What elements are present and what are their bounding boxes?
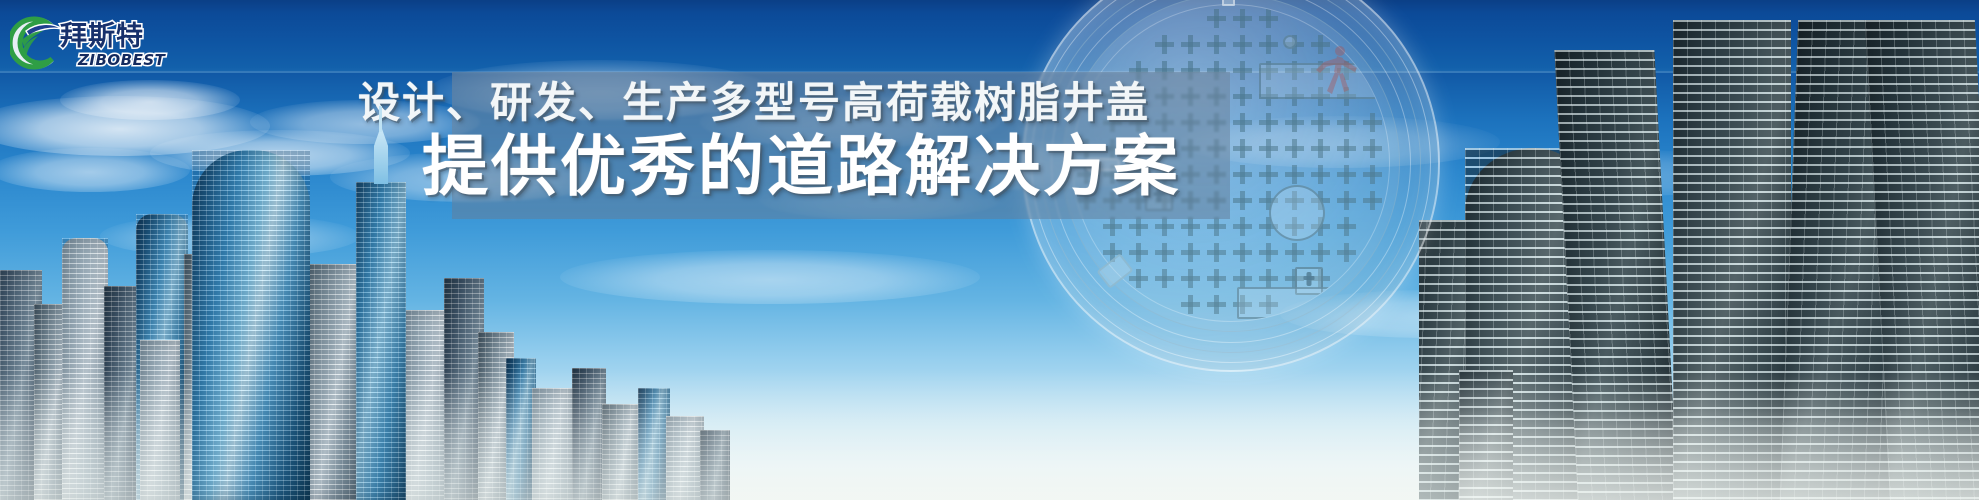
headline-line-1: 设计、研发、生产多型号高荷载树脂井盖 [358, 80, 1150, 126]
cross-pattern-cell [1155, 35, 1174, 54]
cross-pattern-cell [1311, 243, 1330, 262]
cross-pattern-cell [1285, 165, 1304, 184]
cross-pattern-cell [1285, 243, 1304, 262]
cross-pattern-cell [1233, 139, 1252, 158]
cross-pattern-cell [1363, 139, 1382, 158]
cross-pattern-cell [1155, 243, 1174, 262]
cross-pattern-cell [1181, 269, 1200, 288]
cross-pattern-cell [1181, 243, 1200, 262]
cross-pattern-cell [1233, 217, 1252, 236]
manhole-small-marker [1283, 35, 1297, 49]
cross-pattern-cell [1129, 217, 1148, 236]
cross-pattern-cell [1233, 243, 1252, 262]
hero-banner: 设计、研发、生产多型号高荷载树脂井盖 提供优秀的道路解决方案 拜斯特 ZIBOB… [0, 0, 1979, 500]
cross-pattern-cell [1233, 191, 1252, 210]
runner-figure-icon [1310, 42, 1362, 102]
cross-pattern-cell [1337, 191, 1356, 210]
headline-line-2: 提供优秀的道路解决方案 [422, 130, 1181, 204]
cross-pattern-cell [1207, 217, 1226, 236]
cross-pattern-cell [1285, 113, 1304, 132]
headline-panel: 设计、研发、生产多型号高荷载树脂井盖 提供优秀的道路解决方案 [452, 72, 1230, 219]
cross-pattern-cell [1233, 9, 1252, 28]
cross-pattern-cell [1259, 165, 1278, 184]
cross-pattern-cell [1259, 243, 1278, 262]
cross-pattern-cell [1233, 269, 1252, 288]
cross-pattern-cell [1363, 191, 1382, 210]
cross-pattern-cell [1337, 243, 1356, 262]
cross-pattern-cell [1259, 269, 1278, 288]
cross-pattern-cell [1155, 269, 1174, 288]
cross-pattern-cell [1233, 61, 1252, 80]
cross-pattern-cell [1311, 139, 1330, 158]
cross-pattern-cell [1363, 165, 1382, 184]
logo-english-name: ZIBOBEST [78, 51, 165, 69]
cross-pattern-cell [1233, 87, 1252, 106]
cross-pattern-cell [1363, 113, 1382, 132]
cross-pattern-cell [1311, 113, 1330, 132]
cross-pattern-cell [1337, 113, 1356, 132]
manhole-lift-tab-top [1222, 0, 1235, 6]
cross-pattern-cell [1311, 165, 1330, 184]
cross-pattern-cell [1155, 217, 1174, 236]
cross-pattern-cell [1207, 9, 1226, 28]
cross-pattern-cell [1181, 295, 1200, 314]
cross-pattern-cell [1337, 139, 1356, 158]
manhole-recess-panel-bottom [1237, 287, 1347, 319]
cross-pattern-cell [1207, 35, 1226, 54]
cross-pattern-cell [1259, 35, 1278, 54]
cross-pattern-cell [1129, 243, 1148, 262]
cross-pattern-cell [1129, 269, 1148, 288]
cross-pattern-cell [1259, 113, 1278, 132]
cross-pattern-cell [1207, 243, 1226, 262]
cross-pattern-cell [1233, 113, 1252, 132]
site-logo[interactable]: 拜斯特 ZIBOBEST [8, 6, 168, 84]
cross-pattern-cell [1207, 269, 1226, 288]
cross-pattern-cell [1103, 217, 1122, 236]
cross-pattern-cell [1259, 9, 1278, 28]
cross-pattern-cell [1259, 139, 1278, 158]
cross-pattern-cell [1337, 217, 1356, 236]
cross-pattern-cell [1233, 165, 1252, 184]
cross-pattern-cell [1337, 165, 1356, 184]
cross-pattern-cell [1207, 295, 1226, 314]
cross-pattern-cell [1181, 35, 1200, 54]
cross-pattern-cell [1233, 35, 1252, 54]
city-skyline-right [1419, 0, 1979, 500]
manhole-inspection-circle [1269, 185, 1325, 241]
logo-chinese-name: 拜斯特 [60, 22, 144, 52]
cross-pattern-cell [1181, 217, 1200, 236]
cross-pattern-cell [1285, 139, 1304, 158]
